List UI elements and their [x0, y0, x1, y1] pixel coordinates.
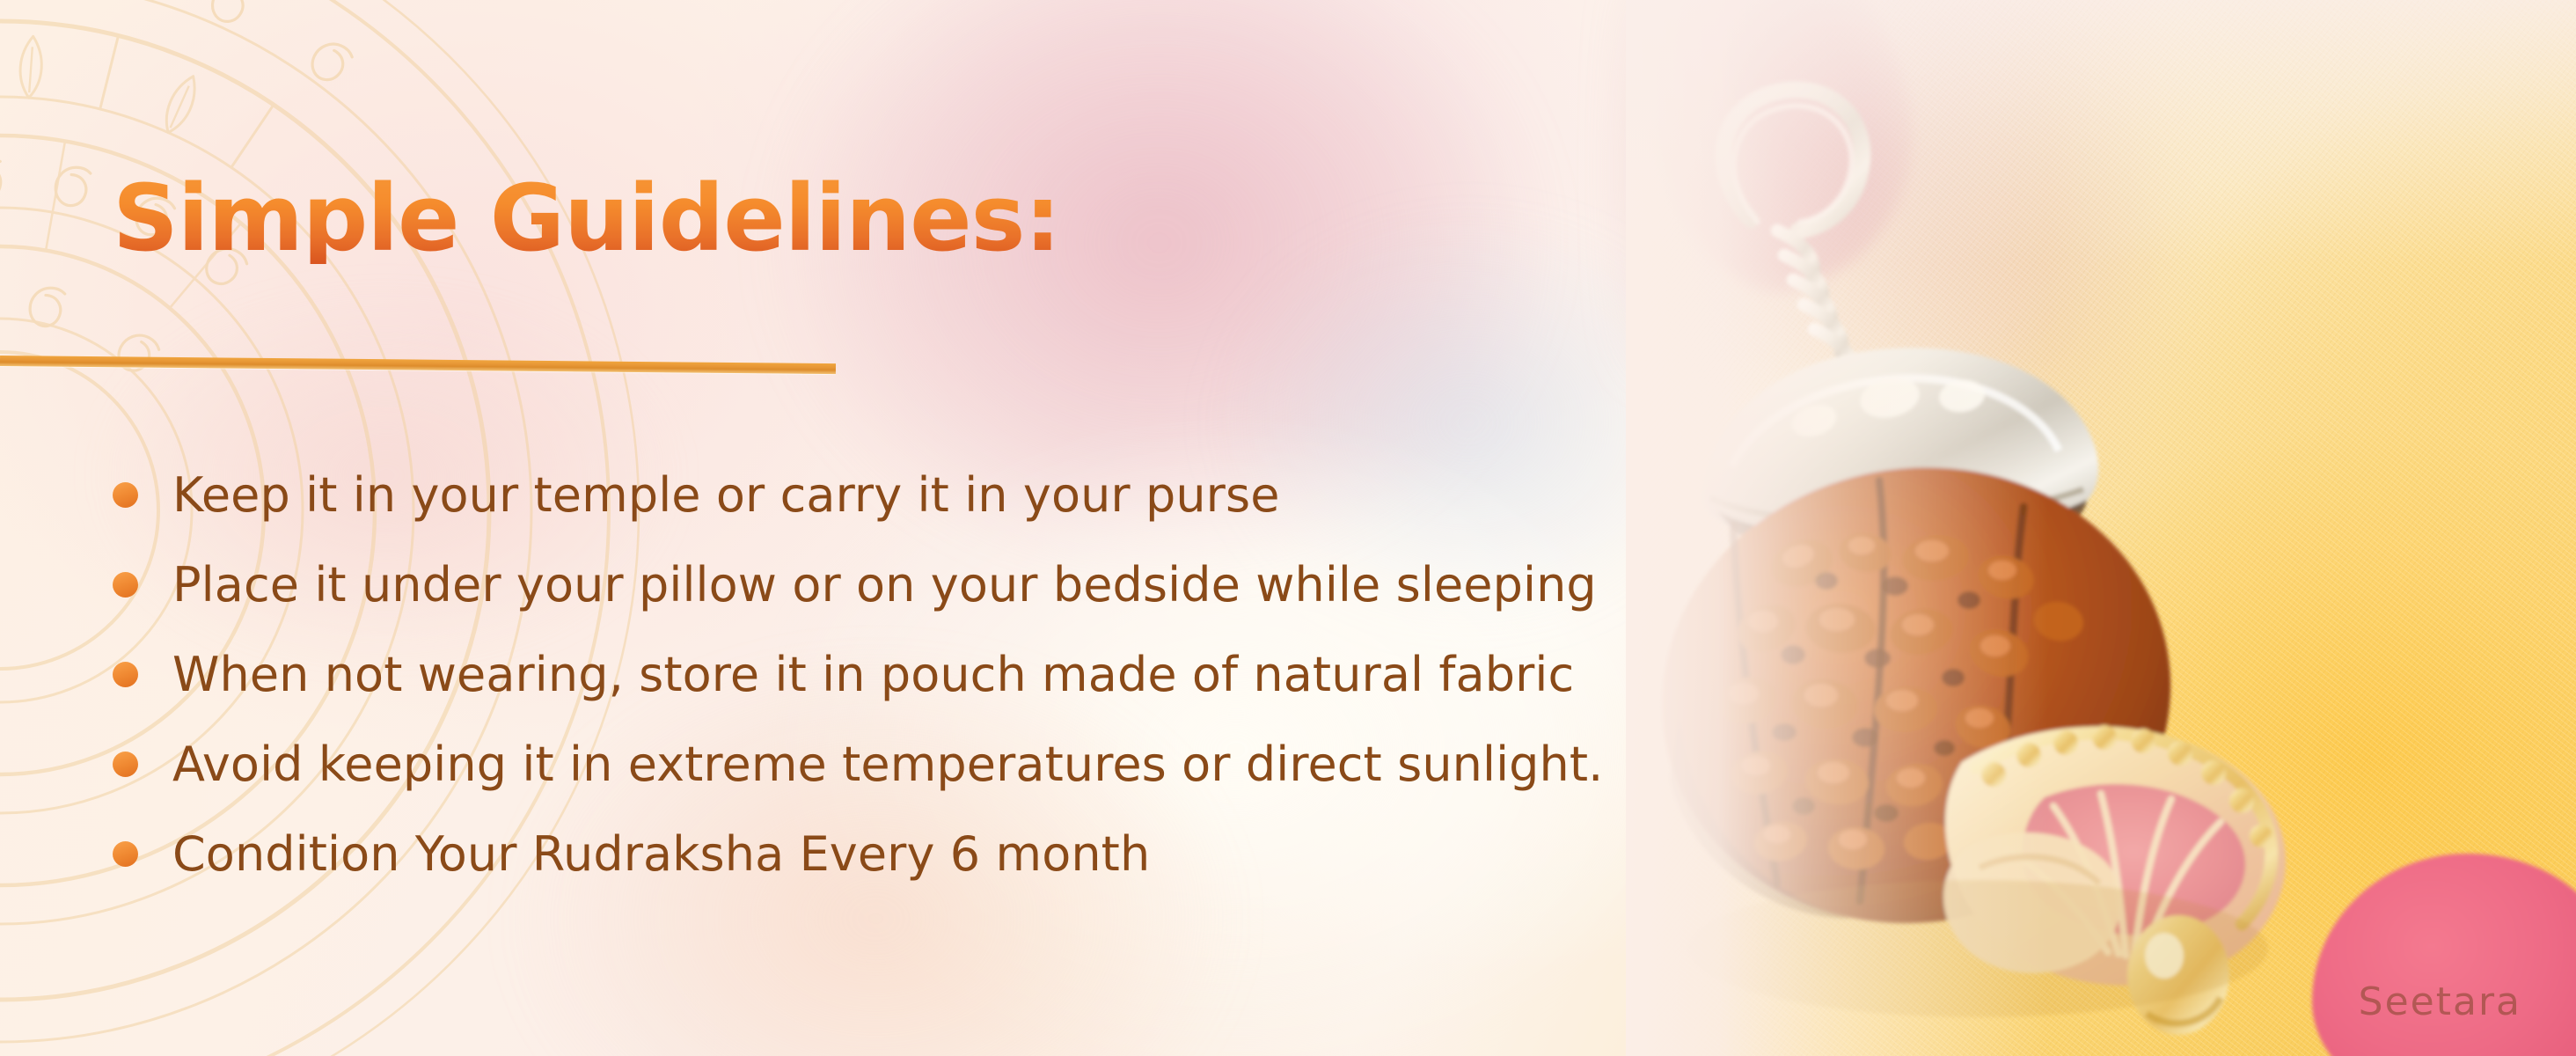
list-item: Condition Your Rudraksha Every 6 month — [106, 810, 1603, 899]
bullet-dot-icon — [113, 482, 138, 508]
guidelines-banner: Simple Guidelines: Keep it in your templ… — [0, 0, 2576, 1056]
list-item-label: Keep it in your temple or carry it in yo… — [172, 471, 1280, 521]
list-item-label: Condition Your Rudraksha Every 6 month — [172, 830, 1150, 880]
list-item: Avoid keeping it in extreme temperatures… — [106, 720, 1603, 810]
bullet-dot-icon — [113, 841, 138, 867]
list-item-label: Avoid keeping it in extreme temperatures… — [172, 740, 1603, 790]
guidelines-list: Keep it in your temple or carry it in yo… — [106, 451, 1603, 899]
list-item: When not wearing, store it in pouch made… — [106, 630, 1603, 720]
list-item: Keep it in your temple or carry it in yo… — [106, 451, 1603, 540]
bullet-dot-icon — [113, 752, 138, 777]
page-title: Simple Guidelines: — [113, 172, 1060, 264]
title-underline-rule — [0, 356, 836, 374]
content-layer: Simple Guidelines: Keep it in your templ… — [0, 0, 2576, 1056]
brand-watermark: Seetara — [2359, 979, 2521, 1024]
bullet-dot-icon — [113, 572, 138, 598]
list-item: Place it under your pillow or on your be… — [106, 540, 1603, 630]
bullet-dot-icon — [113, 662, 138, 687]
list-item-label: Place it under your pillow or on your be… — [172, 561, 1597, 611]
list-item-label: When not wearing, store it in pouch made… — [172, 650, 1574, 700]
